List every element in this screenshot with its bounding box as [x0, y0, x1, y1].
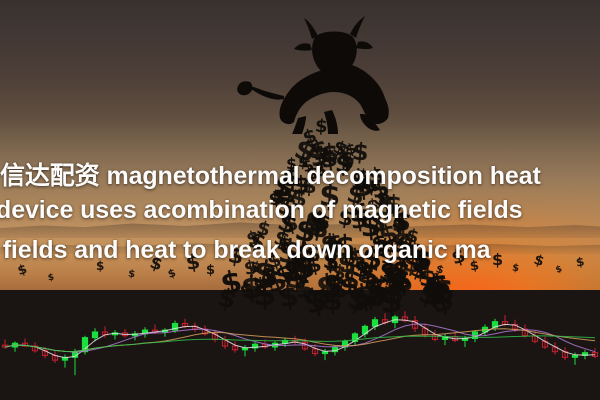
dollar-sign-glyph: $	[368, 165, 387, 189]
dollar-sign-glyph: $	[127, 270, 135, 281]
candle-body	[322, 352, 327, 354]
dollar-sign-glyph: $	[398, 260, 408, 274]
moving-average-line-ma5	[5, 320, 595, 358]
candle-body	[92, 332, 97, 338]
dollar-sign-glyph: $	[318, 180, 341, 212]
stock-banner-image: $$$$$$$$$$$$$$$$$$$$$$$$$$$$$$$$$$$$$$$$…	[0, 0, 600, 400]
dollar-sign-glyph: $	[287, 263, 298, 277]
dollar-sign-glyph: $	[532, 253, 546, 269]
dollar-sign-glyph: $	[360, 261, 372, 275]
dollar-sign-glyph: $	[226, 245, 245, 269]
dollar-sign-glyph: $	[315, 117, 329, 136]
dollar-sign-glyph: $	[555, 265, 564, 275]
candlestick-chart	[0, 288, 600, 400]
dollar-sign-glyph: $	[340, 148, 356, 170]
dollar-sign-glyph: $	[265, 250, 283, 272]
dollar-sign-glyph: $	[306, 244, 321, 265]
dollar-sign-glyph: $	[449, 246, 467, 268]
dollar-sign-glyph: $	[469, 259, 480, 273]
dollar-sign-glyph: $	[417, 251, 431, 270]
dollar-sign-glyph: $	[166, 267, 177, 280]
candle-body	[572, 355, 577, 357]
dollar-sign-glyph: $	[342, 249, 359, 270]
dollar-sign-glyph: $	[492, 252, 503, 268]
dollar-sign-glyph: $	[575, 255, 585, 268]
candle-body	[372, 320, 377, 327]
dollar-sign-glyph: $	[47, 274, 55, 284]
dollar-sign-glyph: $	[434, 263, 445, 276]
dollar-sign-glyph: $	[325, 257, 339, 275]
dollar-sign-glyph: $	[206, 264, 215, 277]
dollar-sign-glyph: $	[511, 264, 519, 275]
dollar-sign-glyph: $	[148, 255, 165, 275]
dollar-sign-glyph: $	[185, 251, 202, 273]
dollar-sign-glyph: $	[16, 263, 29, 278]
dollar-sign-glyph: $	[248, 259, 263, 276]
dollar-sign-glyph: $	[96, 260, 104, 272]
dollar-sign-glyph: $	[379, 245, 396, 267]
